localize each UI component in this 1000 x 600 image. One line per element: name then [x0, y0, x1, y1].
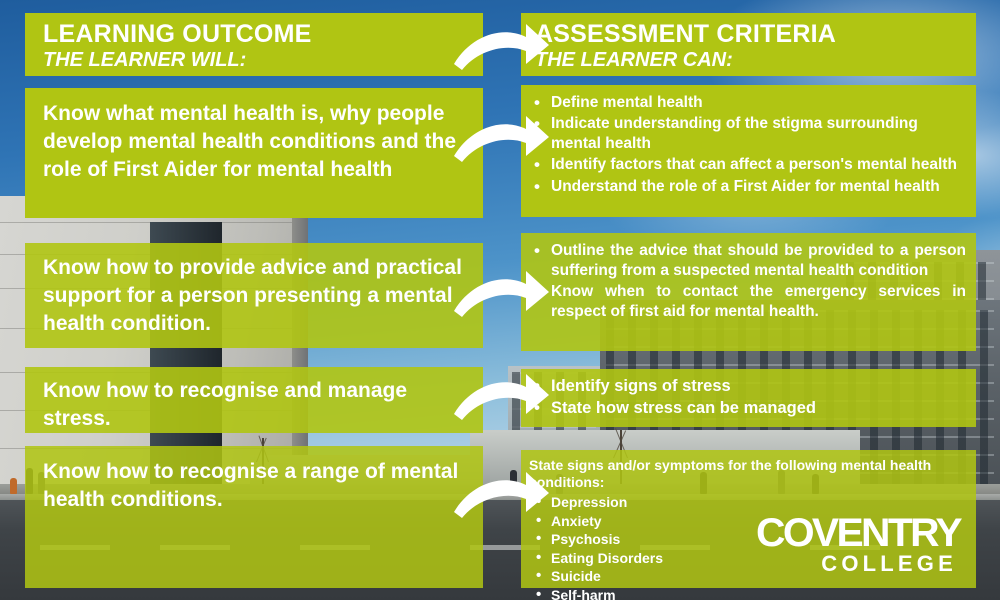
criteria-intro: State signs and/or symptoms for the foll… — [529, 457, 966, 491]
outcome-text: Know what mental health is, why people d… — [43, 100, 459, 184]
criteria-item: Identify signs of stress — [531, 376, 966, 397]
criteria-list-1: Define mental health Indicate understand… — [531, 93, 970, 197]
criteria-item: Identify factors that can affect a perso… — [531, 155, 970, 175]
coventry-college-logo: COVENTRY COLLEGE — [758, 515, 958, 574]
criteria-block-2: Outline the advice that should be provid… — [521, 233, 976, 351]
header-right-title: ASSESSMENT CRITERIA — [535, 21, 976, 48]
curved-arrow-right-icon-3 — [452, 265, 552, 321]
infographic-canvas: LEARNING OUTCOME THE LEARNER WILL: Know … — [0, 0, 1000, 600]
criteria-item: Define mental health — [531, 93, 970, 113]
header-assessment-criteria: ASSESSMENT CRITERIA THE LEARNER CAN: — [521, 13, 976, 76]
criteria-item: Depression — [529, 493, 966, 511]
criteria-block-1: Define mental health Indicate understand… — [521, 85, 976, 217]
criteria-list-2: Outline the advice that should be provid… — [531, 241, 966, 323]
criteria-item: Outline the advice that should be provid… — [531, 241, 966, 281]
curved-arrow-right-icon-1 — [452, 18, 552, 74]
outcome-text: Know how to provide advice and practical… — [43, 254, 463, 338]
outcome-block-2: Know how to provide advice and practical… — [25, 243, 483, 348]
outcome-text: Know how to recognise and manage stress. — [43, 377, 463, 433]
header-left-subtitle: THE LEARNER WILL: — [43, 49, 483, 72]
criteria-block-4: State signs and/or symptoms for the foll… — [521, 450, 976, 588]
criteria-item: State how stress can be managed — [531, 398, 966, 419]
criteria-item: Self-harm — [529, 586, 966, 600]
curved-arrow-right-icon-4 — [452, 368, 552, 424]
criteria-item: Know when to contact the emergency servi… — [531, 282, 966, 322]
header-right-subtitle: THE LEARNER CAN: — [535, 49, 976, 72]
outcome-block-4: Know how to recognise a range of mental … — [25, 446, 483, 588]
outcome-block-1: Know what mental health is, why people d… — [25, 88, 483, 218]
header-learning-outcome: LEARNING OUTCOME THE LEARNER WILL: — [25, 13, 483, 76]
criteria-block-3: Identify signs of stress State how stres… — [521, 369, 976, 427]
outcome-block-3: Know how to recognise and manage stress. — [25, 367, 483, 433]
logo-line-college: COLLEGE — [758, 554, 957, 574]
header-left-title: LEARNING OUTCOME — [43, 21, 483, 48]
pedestrian — [10, 478, 17, 494]
criteria-item: Understand the role of a First Aider for… — [531, 177, 970, 197]
outcome-text: Know how to recognise a range of mental … — [43, 458, 463, 514]
criteria-list-3: Identify signs of stress State how stres… — [531, 376, 966, 420]
criteria-item: Indicate understanding of the stigma sur… — [531, 114, 970, 154]
curved-arrow-right-icon-5 — [452, 466, 552, 522]
logo-line-coventry: COVENTRY — [756, 515, 960, 552]
curved-arrow-right-icon-2 — [452, 110, 552, 166]
